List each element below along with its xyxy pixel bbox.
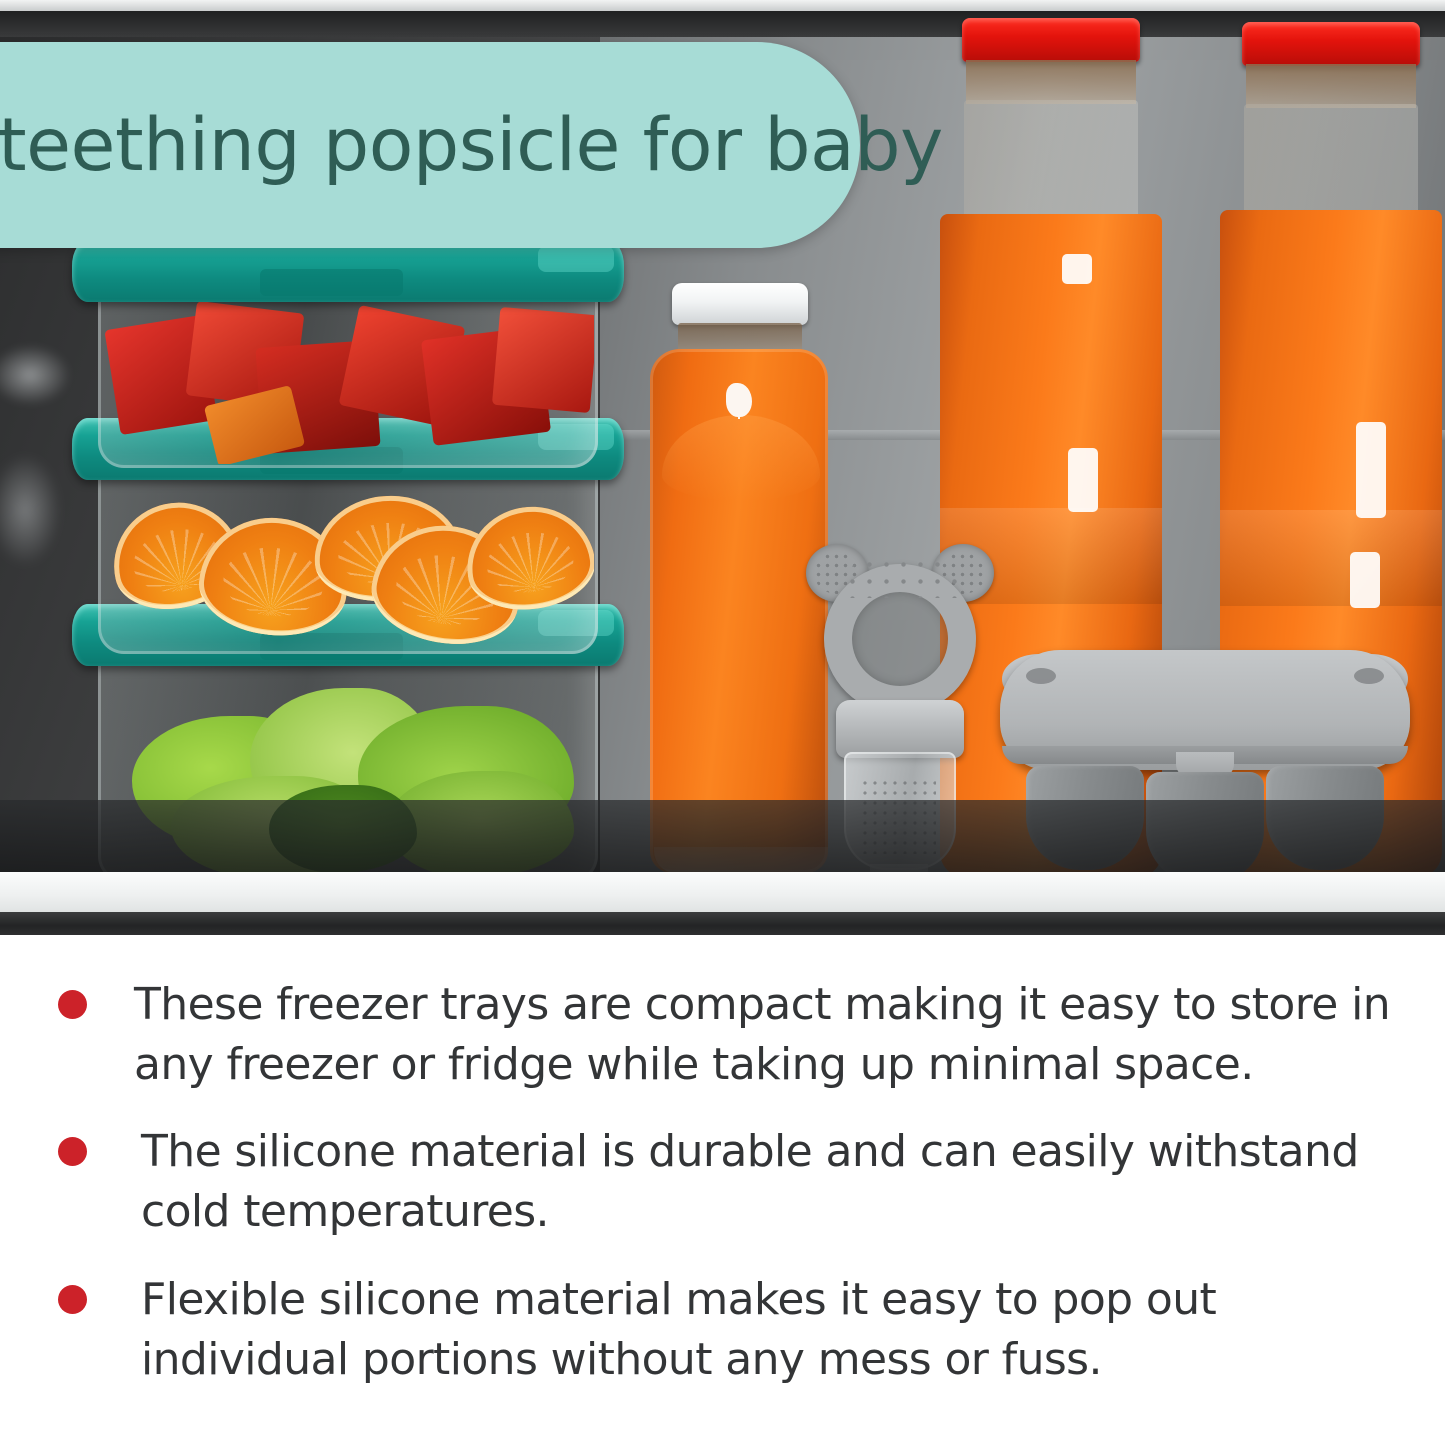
fridge-reflection-highlight — [0, 345, 70, 405]
bottle-highlight — [1068, 448, 1098, 512]
fridge-reflection-highlight — [0, 455, 60, 565]
bottle-cap-red — [1242, 22, 1420, 66]
fridge-shelf-bottom-shadow — [0, 912, 1445, 935]
bottle-glass-neck — [1244, 104, 1418, 224]
list-item: Flexible silicone material makes it easy… — [58, 1270, 1418, 1390]
container-lid-teal — [72, 240, 624, 302]
fridge-shelf-front-edge — [0, 872, 1445, 914]
lid-tab — [538, 246, 614, 272]
bottle-shoulder — [662, 415, 820, 501]
bottle-highlight — [1350, 552, 1380, 608]
stacked-glass-containers — [70, 252, 630, 882]
bullet-text: These freezer trays are compact making i… — [134, 975, 1418, 1095]
bottle-neck — [966, 60, 1136, 104]
product-feature-image: teething popsicle for baby These freezer… — [0, 0, 1445, 1445]
list-item: These freezer trays are compact making i… — [58, 975, 1418, 1095]
bullet-dot-icon — [58, 1137, 87, 1166]
bottle-highlight — [726, 383, 752, 417]
bottle-glass-neck — [964, 100, 1138, 220]
bullet-dot-icon — [58, 1285, 87, 1314]
tray-lid-notch-right — [1354, 668, 1384, 684]
container-contents-peppers — [102, 282, 594, 464]
feature-bullet-list: These freezer trays are compact making i… — [0, 950, 1445, 1445]
glass-container-red-peppers — [98, 268, 598, 468]
bullet-dot-icon — [58, 990, 87, 1019]
tray-lid-notch-left — [1026, 668, 1056, 684]
list-item: The silicone material is durable and can… — [58, 1122, 1418, 1242]
bottle-waist — [1220, 510, 1442, 606]
fridge-top-edge — [0, 0, 1445, 11]
bottle-highlight — [1062, 254, 1092, 284]
bullet-text: Flexible silicone material makes it easy… — [141, 1270, 1418, 1390]
bullet-text: The silicone material is durable and can… — [141, 1122, 1418, 1242]
title-banner-text: teething popsicle for baby — [0, 103, 943, 188]
glass-container-orange-slices — [98, 448, 598, 654]
container-contents-oranges — [102, 462, 594, 650]
bottle-cap-red — [962, 18, 1140, 62]
title-banner: teething popsicle for baby — [0, 42, 860, 248]
bottle-neck — [1246, 64, 1416, 108]
product-photo: teething popsicle for baby — [0, 0, 1445, 935]
bottle-cap-white — [672, 283, 808, 325]
feeder-collar — [836, 700, 964, 758]
teether-texture-bumps — [844, 556, 958, 598]
bottle-highlight — [1356, 422, 1386, 518]
